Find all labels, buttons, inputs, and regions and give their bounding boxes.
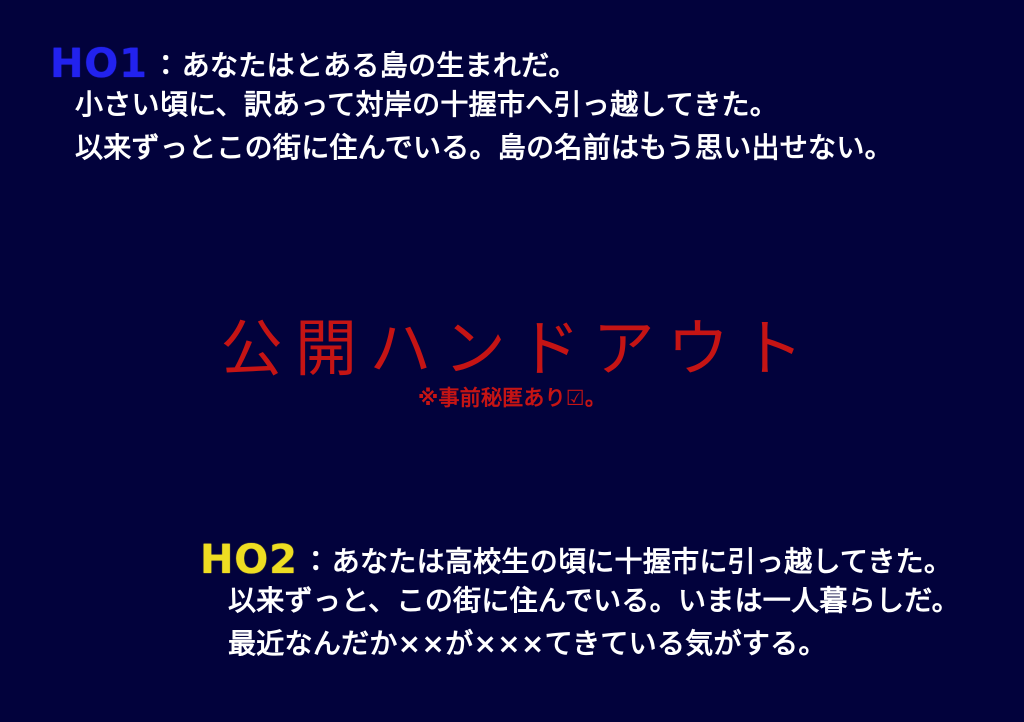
ho1-body-line-1: 小さい頃に、訳あって対岸の十握市へ引っ越してきた。 bbox=[75, 84, 980, 127]
handout-subtitle-note: ※事前秘匿あり☑。 bbox=[0, 387, 1024, 410]
center-title-section: 公開ハンドアウト ※事前秘匿あり☑。 bbox=[0, 316, 1024, 410]
ho2-tag-label: HO2 bbox=[200, 537, 298, 583]
ho2-body-lines: 以来ずっと、この街に住んでいる。いまは一人暮らしだ。 最近なんだか××が×××て… bbox=[200, 580, 1010, 665]
ho1-tag-label: HO1 bbox=[50, 41, 148, 87]
ho1-section: HO1：あなたはとある島の生まれだ。 小さい頃に、訳あって対岸の十握市へ引っ越し… bbox=[50, 44, 980, 169]
ho2-section: HO2：あなたは高校生の頃に十握市に引っ越してきた。 以来ずっと、この街に住んで… bbox=[200, 540, 1010, 665]
ho2-body-line-2: 最近なんだか××が×××てきている気がする。 bbox=[228, 623, 1010, 666]
ho2-headline: HO2：あなたは高校生の頃に十握市に引っ越してきた。 bbox=[200, 540, 1010, 580]
ho2-headline-text: あなたは高校生の頃に十握市に引っ越してきた。 bbox=[332, 545, 952, 578]
ho1-headline: HO1：あなたはとある島の生まれだ。 bbox=[50, 44, 980, 84]
ho1-body-line-2: 以来ずっとこの街に住んでいる。島の名前はもう思い出せない。 bbox=[75, 127, 980, 170]
ho1-body-lines: 小さい頃に、訳あって対岸の十握市へ引っ越してきた。 以来ずっとこの街に住んでいる… bbox=[50, 84, 980, 169]
ho1-colon: ： bbox=[148, 49, 182, 82]
slide-canvas: HO1：あなたはとある島の生まれだ。 小さい頃に、訳あって対岸の十握市へ引っ越し… bbox=[0, 0, 1024, 722]
ho2-colon: ： bbox=[298, 545, 332, 578]
handout-title: 公開ハンドアウト bbox=[0, 316, 1024, 381]
ho1-headline-text: あなたはとある島の生まれだ。 bbox=[182, 49, 577, 82]
ho2-body-line-1: 以来ずっと、この街に住んでいる。いまは一人暮らしだ。 bbox=[228, 580, 1010, 623]
